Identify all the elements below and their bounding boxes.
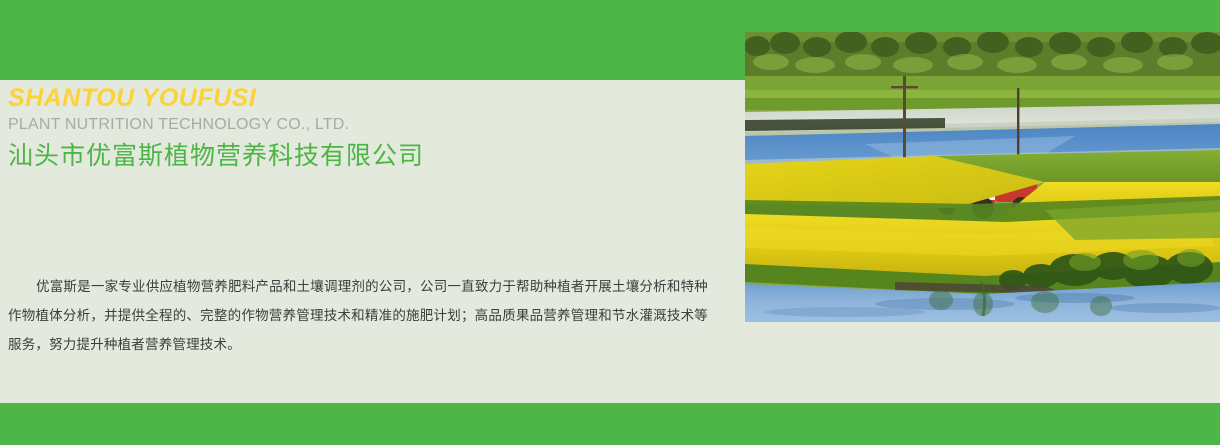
company-subtitle-english: PLANT NUTRITION TECHNOLOGY CO., LTD.	[8, 113, 728, 136]
farmland-photo	[745, 32, 1220, 322]
farmland-photo-illustration	[745, 32, 1220, 322]
company-name-chinese: 汕头市优富斯植物营养科技有限公司	[8, 140, 728, 173]
brand-block: SHANTOU YOUFUSI PLANT NUTRITION TECHNOLO…	[8, 85, 728, 173]
bottom-green-band	[0, 403, 1220, 445]
company-name-english: SHANTOU YOUFUSI	[8, 85, 728, 111]
company-intro-paragraph: 优富斯是一家专业供应植物营养肥料产品和土壤调理剂的公司，公司一直致力于帮助种植者…	[8, 272, 708, 359]
